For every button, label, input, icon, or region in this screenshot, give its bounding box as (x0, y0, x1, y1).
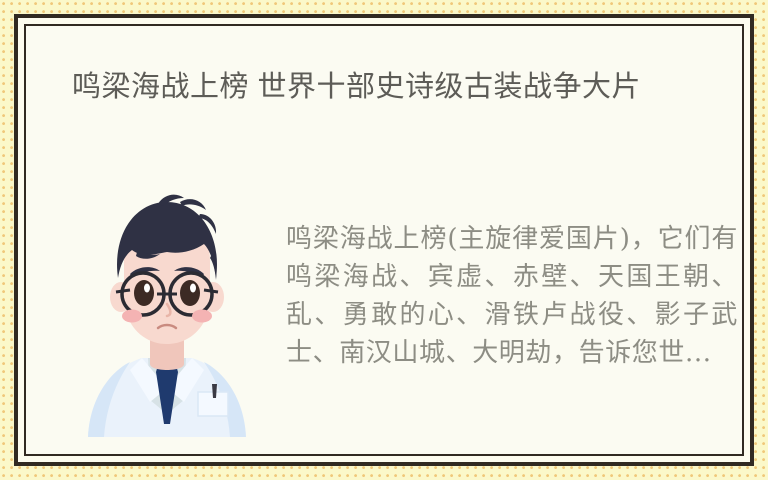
avatar (72, 192, 262, 437)
page-title: 鸣梁海战上榜 世界十部史诗级古装战争大片 (72, 66, 716, 109)
cartoon-doctor-avatar-icon (72, 192, 262, 437)
article-content-row: 鸣梁海战上榜(主旋律爱国片)，它们有鸣梁海战、宾虚、赤壁、天国王朝、乱、勇敢的心… (72, 192, 720, 444)
article-card: 鸣梁海战上榜 世界十部史诗级古装战争大片 (24, 24, 744, 456)
article-excerpt: 鸣梁海战上榜(主旋律爱国片)，它们有鸣梁海战、宾虚、赤壁、天国王朝、乱、勇敢的心… (286, 220, 738, 372)
article-frame-outer: 鸣梁海战上榜 世界十部史诗级古装战争大片 (14, 14, 754, 466)
page-background: 鸣梁海战上榜 世界十部史诗级古装战争大片 (0, 0, 768, 480)
